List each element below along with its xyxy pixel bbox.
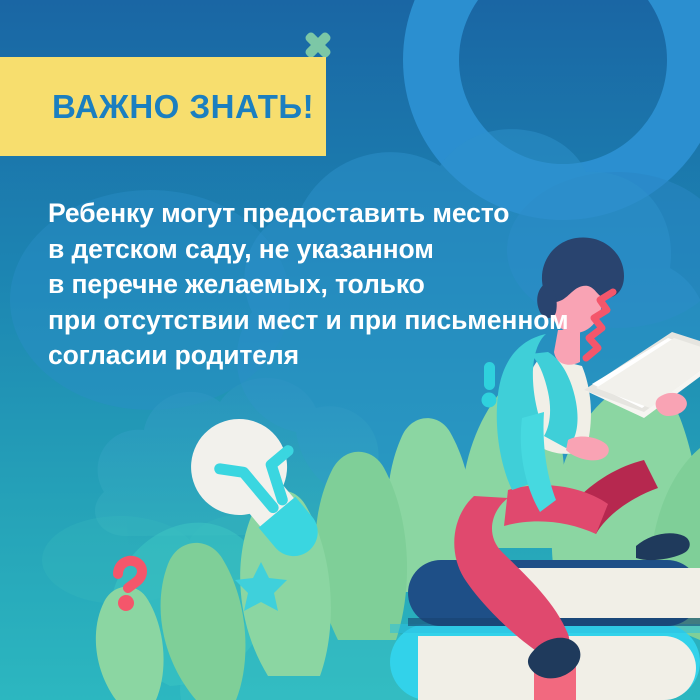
body-line-1: Ребенку могут предоставить место <box>48 196 648 232</box>
poster-canvas: ВАЖНО ЗНАТЬ! Ребенку могут предоставить … <box>0 0 700 700</box>
body-copy: Ребенку могут предоставить место в детск… <box>48 196 648 374</box>
body-line-4: при отсутствии мест и при письменном <box>48 303 648 339</box>
body-line-3: в перечне желаемых, только <box>48 267 648 303</box>
headline-banner: ВАЖНО ЗНАТЬ! <box>0 57 326 156</box>
body-line-5: согласии родителя <box>48 338 648 374</box>
banner-title: ВАЖНО ЗНАТЬ! <box>52 88 314 126</box>
dot-decoration <box>484 404 486 406</box>
body-line-2: в детском саду, не указанном <box>48 232 648 268</box>
